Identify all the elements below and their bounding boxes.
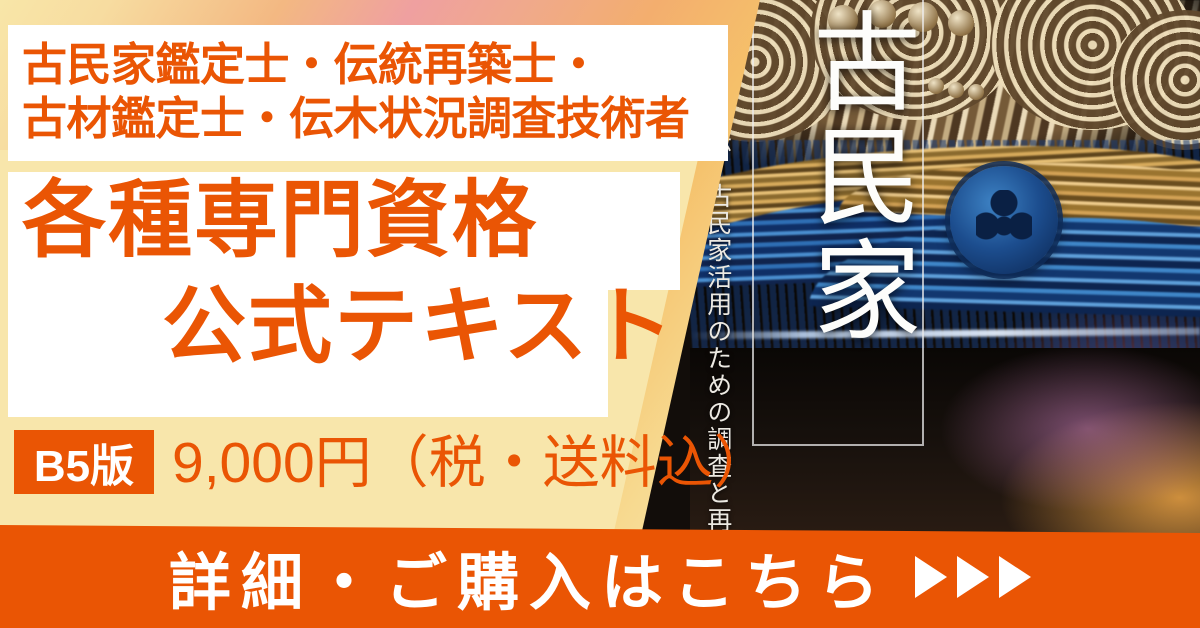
format-badge: B5版 <box>14 430 154 494</box>
book-cover-title: 古民家 <box>752 6 920 348</box>
promo-banner: 伝統構法 古民家活用のための調査と再生の 古民家 古民家鑑定士・伝統再築士・ 古… <box>0 0 1200 628</box>
cta-bar[interactable]: 詳細・ご購入はこちら <box>0 519 1200 628</box>
triangle-right-icon <box>915 556 947 598</box>
qualifications-line-1: 古民家鑑定士・伝統再築士・ <box>22 35 722 95</box>
family-crest-roundel-icon <box>950 166 1058 274</box>
headline-line-2: 公式テキスト <box>162 284 675 368</box>
headline-line-1: 各種専門資格 <box>22 178 538 262</box>
wood-knob-decor <box>948 82 964 98</box>
qualifications-box: 古民家鑑定士・伝統再築士・ 古材鑑定士・伝木状況調査技術者 <box>8 25 728 161</box>
cta-label: 詳細・ご購入はこちら <box>169 526 889 622</box>
cta-inner: 詳細・ご購入はこちら <box>0 519 1200 628</box>
wood-knob-decor <box>928 78 944 94</box>
price-text: 9,000円（税・送料込） <box>172 432 771 494</box>
wood-knob-decor <box>948 10 974 36</box>
qualifications-line-2: 古材鑑定士・伝木状況調査技術者 <box>22 89 722 149</box>
cta-arrows <box>915 550 1031 598</box>
format-badge-label: B5版 <box>14 430 154 494</box>
wood-knob-decor <box>968 84 984 100</box>
triangle-right-icon <box>999 556 1031 598</box>
triangle-right-icon <box>957 556 989 598</box>
